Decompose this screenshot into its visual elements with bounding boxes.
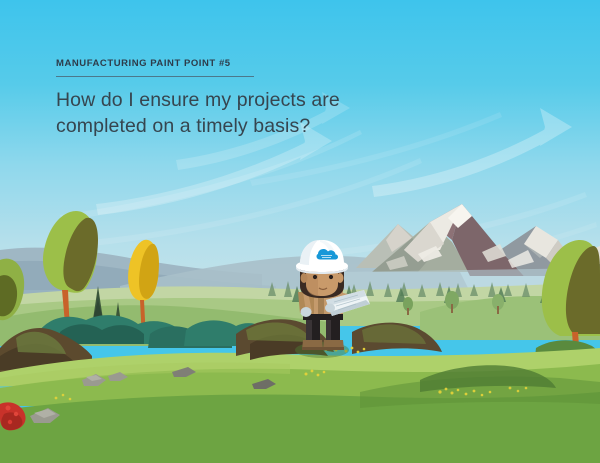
divider-rule <box>56 76 254 77</box>
illustration-slide: MANUFACTURING PAINT POINT #5 How do I en… <box>0 0 600 463</box>
page-title: How do I ensure my projects are complete… <box>56 88 356 140</box>
eyebrow-label: MANUFACTURING PAINT POINT #5 <box>56 58 386 69</box>
headline-line-2: completed on a timely basis? <box>56 115 310 137</box>
headline-line-1: How do I ensure my projects are <box>56 89 340 111</box>
hard-hat <box>296 240 348 274</box>
slide-text-block: MANUFACTURING PAINT POINT #5 How do I en… <box>56 58 386 140</box>
